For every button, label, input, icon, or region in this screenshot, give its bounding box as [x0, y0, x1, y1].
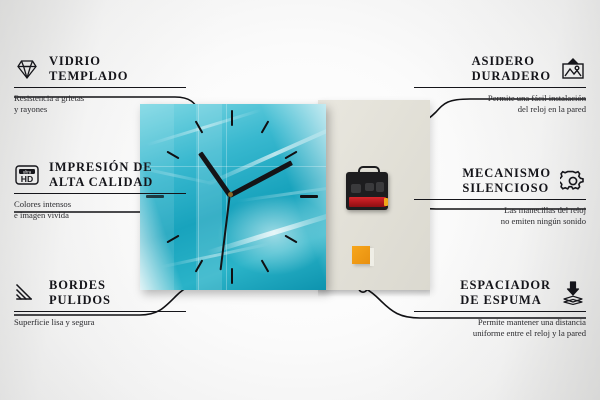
- feature-desc-line2: uniforme entre el reloj y la pared: [473, 328, 586, 338]
- feature-rule: [14, 311, 186, 312]
- infographic-canvas: VIDRIO TEMPLADO Resistencia a grietas y …: [0, 0, 600, 400]
- battery: [349, 197, 386, 207]
- feature-title-line1: IMPRESIÓN DE: [49, 160, 153, 174]
- gear-icon: [560, 169, 586, 193]
- feature-desc-line2: y rayones: [14, 104, 47, 114]
- feature-title-line1: MECANISMO: [462, 166, 551, 180]
- feature-title-line1: BORDES: [49, 278, 106, 292]
- feature-desc-line2: e imagen vívida: [14, 210, 69, 220]
- feature-desc-line1: Permite una fácil instalación: [488, 93, 586, 103]
- feature-title-line1: ASIDERO: [472, 54, 535, 68]
- feature-title-line2: DURADERO: [472, 69, 551, 83]
- feature-rule: [14, 87, 186, 88]
- feature-desc-line1: Resistencia a grietas: [14, 93, 84, 103]
- ultra-hd-icon: ultra HD: [14, 163, 40, 187]
- foam-spacer-icon: [560, 281, 586, 305]
- feature-mecanismo-silencioso: MECANISMO SILENCIOSO Las manecillas del …: [414, 166, 586, 227]
- feature-desc-line1: Permite mantener una distancia: [478, 317, 586, 327]
- feature-rule: [14, 193, 186, 194]
- feature-rule: [414, 87, 586, 88]
- movement-knob: [351, 184, 361, 193]
- polished-edges-icon: [14, 281, 40, 305]
- feature-rule: [414, 199, 586, 200]
- clock-movement: [346, 172, 388, 210]
- movement-knob: [365, 183, 374, 191]
- feature-asidero-duradero: ASIDERO DURADERO Permite una fácil insta…: [414, 54, 586, 115]
- feature-desc-line2: no emiten ningún sonido: [501, 216, 586, 226]
- feature-title-line1: VIDRIO: [49, 54, 101, 68]
- feature-rule: [414, 311, 586, 312]
- feature-desc-line1: Colores intensos: [14, 199, 71, 209]
- feature-vidrio-templado: VIDRIO TEMPLADO Resistencia a grietas y …: [14, 54, 186, 115]
- feature-desc-line2: del reloj en la pared: [518, 104, 586, 114]
- movement-hanger: [358, 166, 380, 177]
- feature-title-line2: DE ESPUMA: [460, 293, 541, 307]
- feature-espaciador-de-espuma: ESPACIADOR DE ESPUMA Permite mantener un…: [414, 278, 586, 339]
- feature-title-line2: SILENCIOSO: [462, 181, 549, 195]
- feature-title-line2: TEMPLADO: [49, 69, 128, 83]
- feature-title-line2: PULIDOS: [49, 293, 111, 307]
- feature-desc-line1: Superficie lisa y segura: [14, 317, 94, 327]
- feature-impresion-alta-calidad: ultra HD IMPRESIÓN DE ALTA CALIDAD Color…: [14, 160, 186, 221]
- feature-desc-line1: Las manecillas del reloj: [504, 205, 586, 215]
- feature-title-line2: ALTA CALIDAD: [49, 175, 153, 189]
- clock-center-pin: [228, 192, 233, 197]
- feature-title-line1: ESPACIADOR: [460, 278, 551, 292]
- wall-hanger-icon: [560, 57, 586, 81]
- movement-knob: [376, 182, 384, 192]
- svg-text:HD: HD: [21, 174, 33, 184]
- diamond-icon: [14, 57, 40, 81]
- feature-bordes-pulidos: BORDES PULIDOS Superficie lisa y segura: [14, 278, 186, 328]
- foam-spacer: [352, 246, 370, 264]
